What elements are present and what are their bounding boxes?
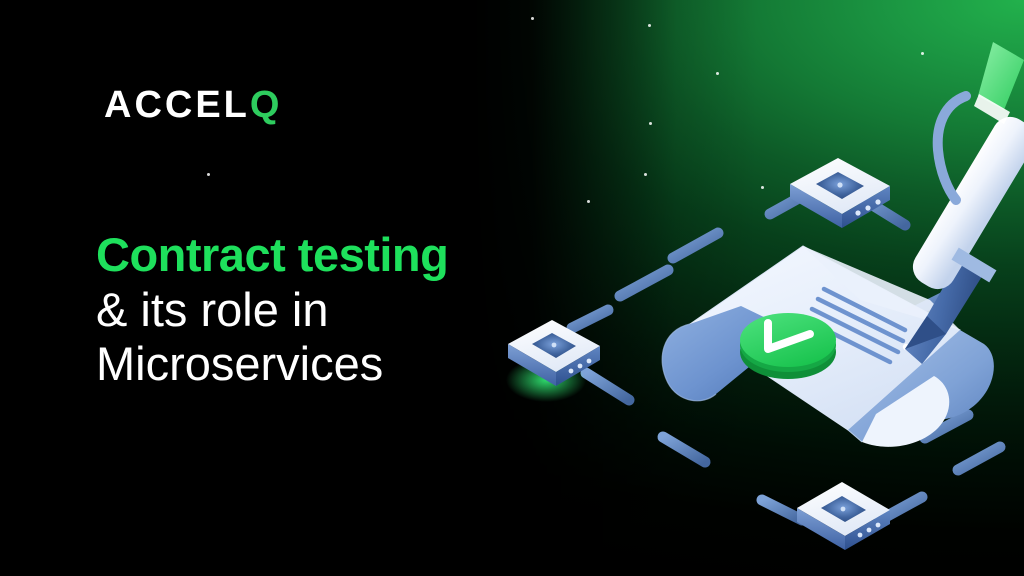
microservice-node-bottom [797,482,890,550]
logo-text: ACCEL [104,84,250,126]
microservice-node-top-right [790,158,890,228]
promo-banner: ACCELQ Contract testing & its role in Mi… [0,0,1024,576]
page-title: Contract testing & its role in Microserv… [96,228,566,392]
headline-line-3: Microservices [96,337,566,392]
accelq-logo[interactable]: ACCELQ [104,86,282,124]
logo-accent-q: Q [250,84,283,126]
green-check-badge [740,313,836,379]
headline-line-2: & its role in [96,283,566,338]
headline-line-1: Contract testing [96,228,566,283]
